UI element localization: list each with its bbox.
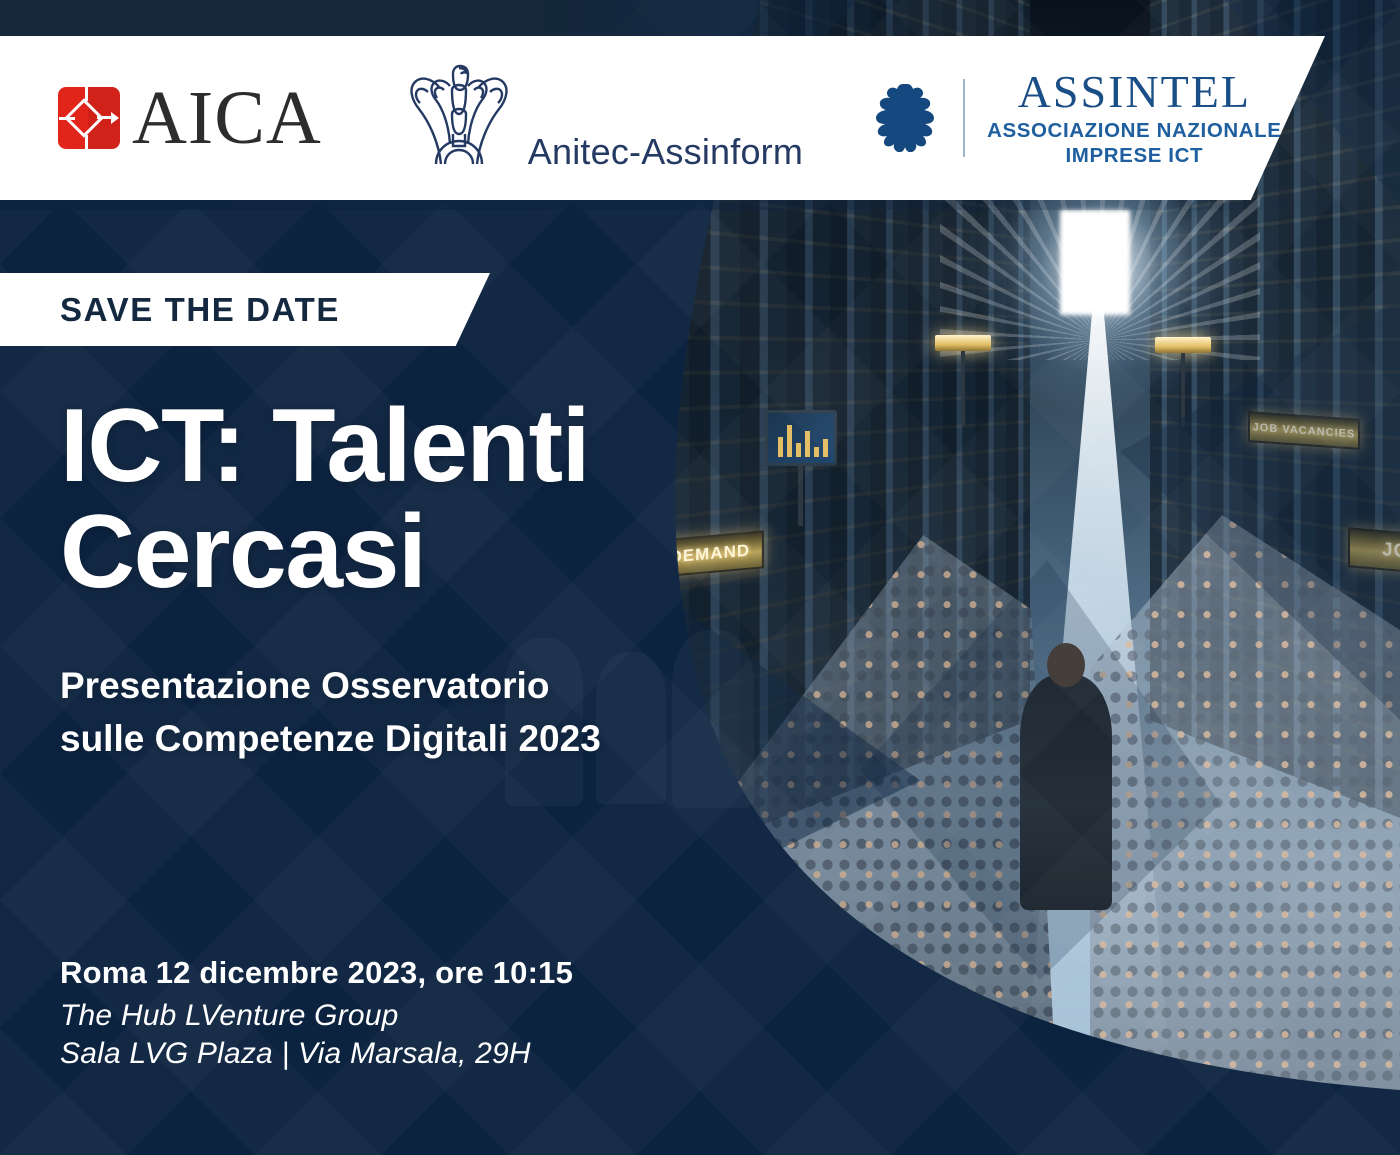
anitec-wordmark: Anitec-Assinform xyxy=(528,131,803,173)
doorway-light xyxy=(1060,210,1130,315)
logo-anitec-assinform[interactable]: Anitec-Assinform xyxy=(400,60,803,177)
title-line-1: ICT: Talenti xyxy=(60,388,589,504)
logo-assintel[interactable]: ASSINTEL ASSOCIAZIONE NAZIONALE IMPRESE … xyxy=(865,69,1282,168)
event-address: Sala LVG Plaza | Via Marsala, 29H xyxy=(60,1035,573,1073)
event-venue: The Hub LVenture Group xyxy=(60,997,573,1035)
overhead-lamp-right xyxy=(1155,337,1211,353)
save-the-date-label: SAVE THE DATE xyxy=(60,291,340,329)
aica-wordmark: AICA xyxy=(132,80,322,156)
monitor-post xyxy=(798,466,803,526)
eagle-outline-icon xyxy=(400,60,518,177)
lamp-post-left xyxy=(961,351,965,425)
subtitle-line-2: sulle Competenze Digitali 2023 xyxy=(60,713,601,766)
assintel-tagline-line1: ASSOCIAZIONE NAZIONALE xyxy=(987,119,1282,143)
title-line-2: Cercasi xyxy=(60,499,589,605)
subtitle-line-1: Presentazione Osservatorio xyxy=(60,665,549,706)
logo-aica[interactable]: AICA xyxy=(58,80,322,156)
event-datetime: Roma 12 dicembre 2023, ore 10:15 xyxy=(60,955,573,991)
logo-band: AICA xyxy=(0,36,1325,200)
ghost-silhouette-2 xyxy=(596,652,666,804)
save-the-date-ribbon: SAVE THE DATE xyxy=(0,273,490,346)
event-details: Roma 12 dicembre 2023, ore 10:15 The Hub… xyxy=(60,955,573,1074)
aica-diamond-arrow-icon xyxy=(58,87,120,149)
assintel-divider xyxy=(963,79,965,157)
page-subtitle: Presentazione Osservatorio sulle Compete… xyxy=(60,660,601,765)
assintel-wordmark: ASSINTEL xyxy=(987,69,1282,115)
lamp-post-right xyxy=(1181,353,1185,427)
eagle-solid-icon xyxy=(865,80,941,157)
poster-canvas: JOB DEMAND JOB VACANCIES JOB xyxy=(0,0,1400,1155)
assintel-tagline-line2: IMPRESE ICT xyxy=(987,144,1282,168)
analytics-monitor xyxy=(765,410,837,466)
page-title: ICT: Talenti Cercasi xyxy=(60,393,589,605)
ghost-silhouette-3 xyxy=(672,630,754,808)
overhead-lamp-left xyxy=(935,335,991,351)
